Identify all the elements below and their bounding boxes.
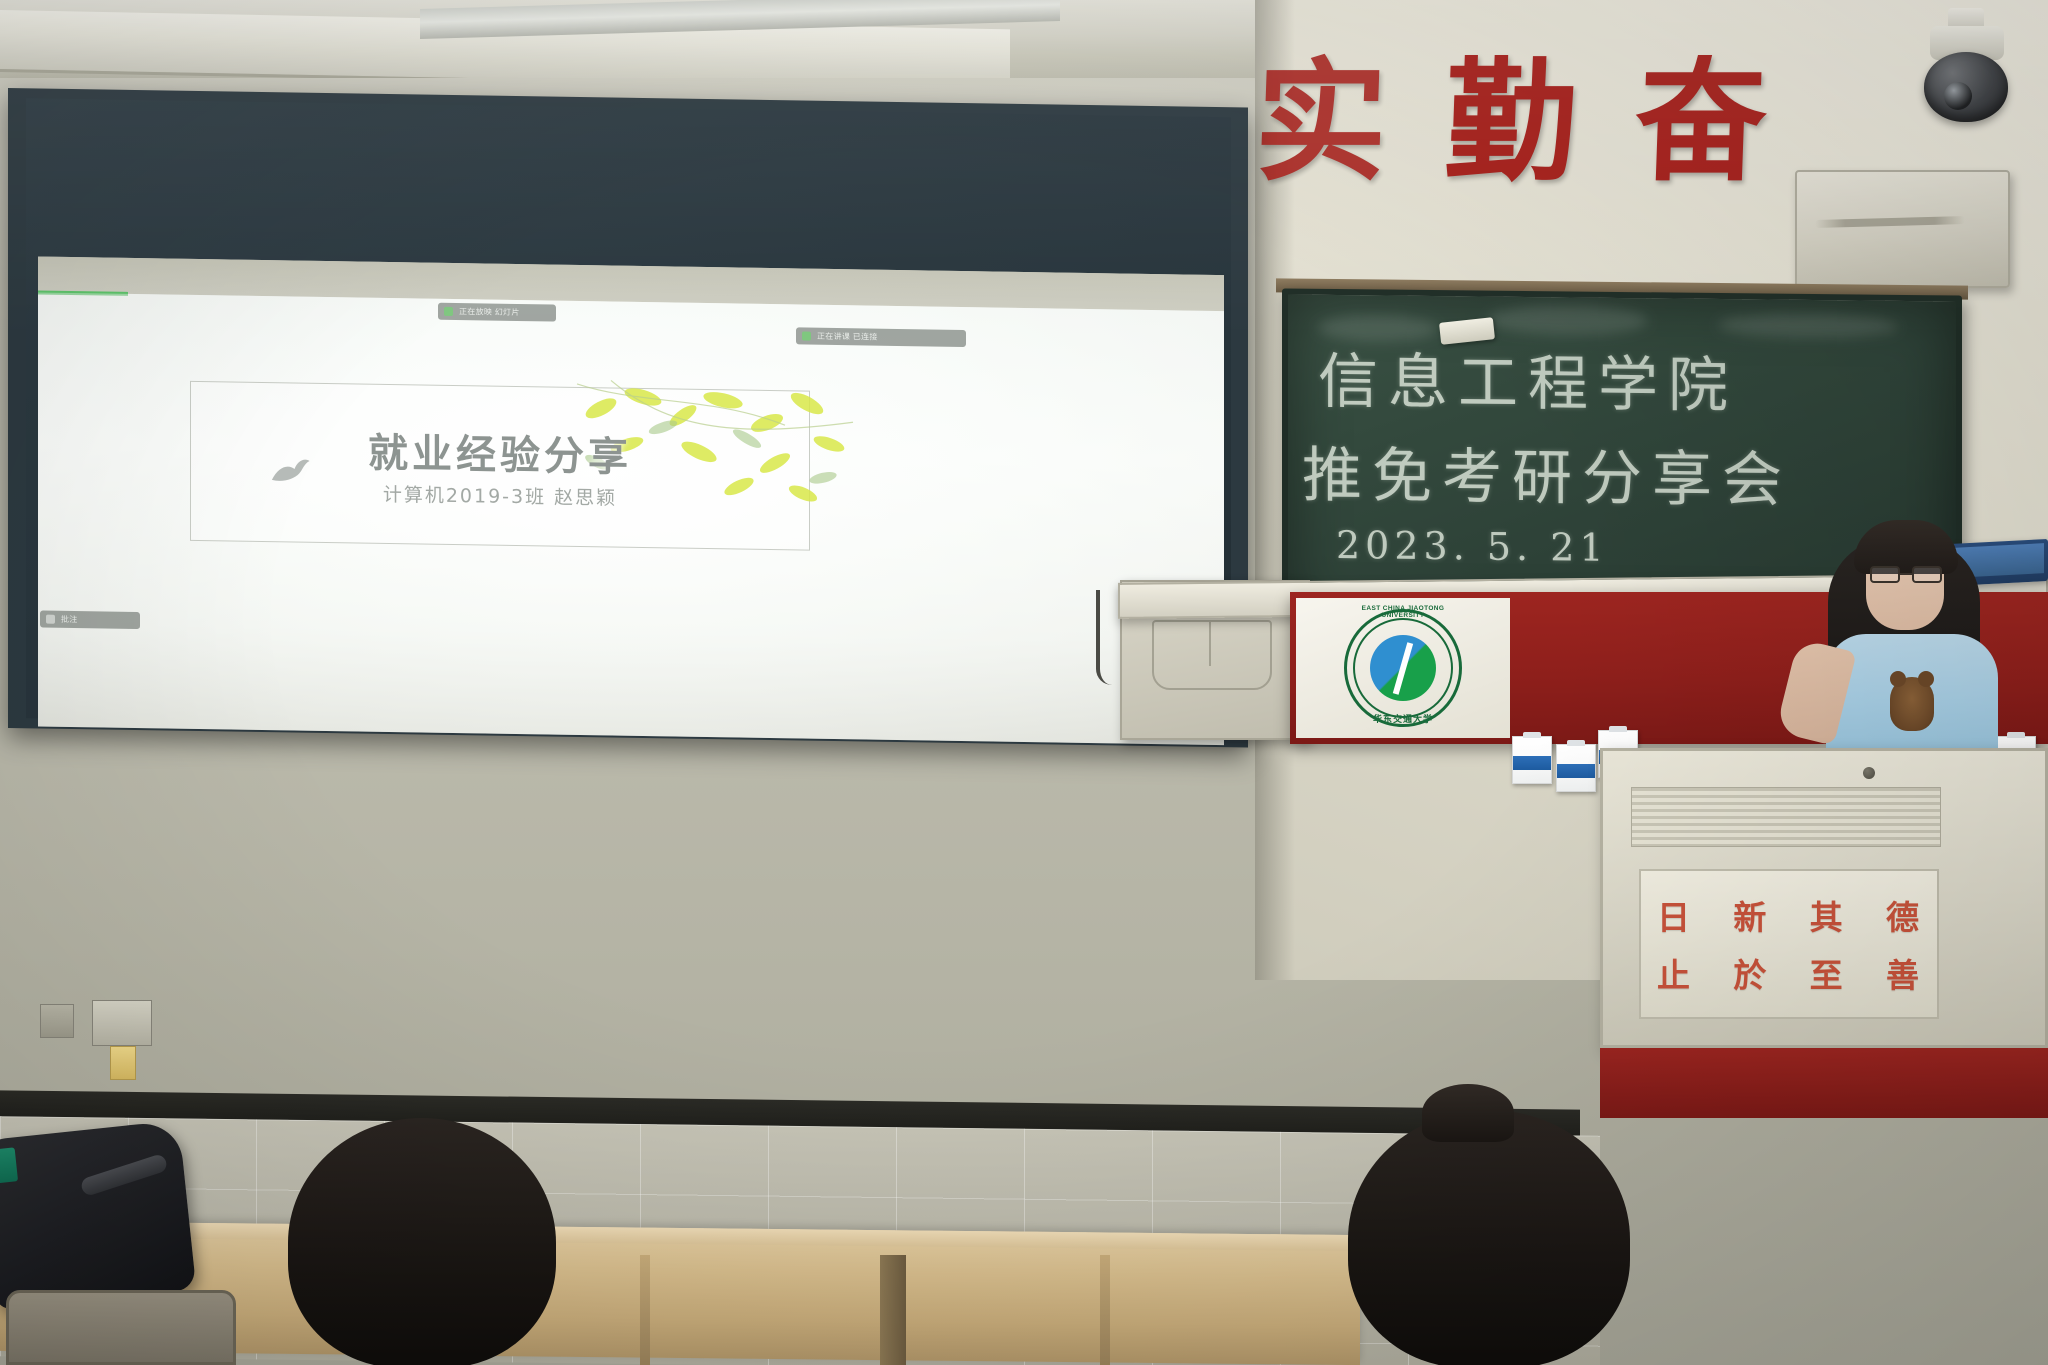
banner-char-2: 奋 — [1633, 57, 1770, 189]
projection-screen: 正在放映 幻灯片 正在讲课 已连接 批注 — [8, 88, 1248, 747]
carton-band — [1557, 764, 1595, 778]
slide-title-box: 就业经验分享 计算机2019-3班 赵思颖 — [190, 381, 810, 551]
banner-char-0: 实 — [1253, 57, 1390, 189]
teddy-bear-print-icon — [1890, 677, 1934, 731]
university-name-chinese: 华东交通大学 — [1344, 712, 1462, 725]
podium-logo-panel: EAST CHINA JIAOTONG UNIVERSITY 华东交通大学 — [1296, 598, 1510, 738]
lower-cabinet: 日 新 其 德 止 於 至 善 — [1600, 748, 2048, 1048]
audience-head-left — [288, 1118, 556, 1365]
presenter-right-bar[interactable]: 正在讲课 已连接 — [796, 327, 966, 347]
plaque-char: 新 — [1733, 891, 1768, 939]
audience-head-right — [1348, 1110, 1630, 1365]
plaque-char: 其 — [1810, 891, 1845, 939]
glasses-icon — [1870, 566, 1942, 583]
power-socket-icon — [40, 1004, 74, 1038]
record-dot-icon — [802, 331, 811, 340]
camera-lens — [1944, 82, 1972, 110]
motto-plaque: 日 新 其 德 止 於 至 善 — [1639, 869, 1939, 1019]
backpack-tag — [0, 1147, 18, 1184]
milk-carton[interactable] — [1556, 744, 1596, 792]
presenter-left-bar-label: 批注 — [61, 614, 78, 625]
chair-icon — [6, 1290, 236, 1365]
knob-icon[interactable] — [1863, 767, 1875, 779]
glasses-right-lens — [1912, 566, 1942, 583]
chalk-smudge — [1488, 305, 1648, 337]
university-emblem-icon: EAST CHINA JIAOTONG UNIVERSITY 华东交通大学 — [1344, 609, 1462, 727]
university-name-english: EAST CHINA JIAOTONG UNIVERSITY — [1344, 605, 1462, 619]
presenter-top-bar[interactable]: 正在放映 幻灯片 — [438, 303, 556, 322]
chalk-smudge — [1718, 313, 1898, 339]
security-camera-icon — [1900, 8, 2020, 133]
desk-divider — [640, 1255, 650, 1365]
banner-char-1: 勤 — [1443, 57, 1580, 189]
grey-dot-icon — [46, 615, 55, 624]
blackboard-line-2: 推免考研分享会 — [1302, 427, 1792, 519]
blackboard-line-3: 2023. 5. 21 — [1336, 523, 1609, 570]
plaque-char: 止 — [1657, 949, 1692, 997]
projector-glyph-icon — [1152, 620, 1272, 690]
presenter-right-bar-label: 正在讲课 已连接 — [817, 331, 878, 343]
carton-cap-icon — [1567, 740, 1585, 746]
label-tag-icon — [110, 1046, 136, 1080]
plaque-char: 德 — [1886, 891, 1921, 939]
plaque-char: 善 — [1886, 949, 1921, 997]
presenter-top-bar-label: 正在放映 幻灯片 — [459, 306, 520, 318]
vent-grill-icon — [1631, 787, 1941, 847]
plaque-char: 於 — [1733, 949, 1768, 997]
plaque-char: 日 — [1657, 891, 1692, 939]
wall-speaker-icon — [1795, 170, 2010, 288]
presenter — [1820, 512, 2048, 782]
plaque-char: 至 — [1810, 949, 1845, 997]
milk-carton[interactable] — [1512, 736, 1552, 784]
emblem-core — [1370, 635, 1436, 701]
lower-cabinet-base — [1600, 1048, 2048, 1118]
desk-leg — [880, 1255, 906, 1365]
presenter-left-bar[interactable]: 批注 — [40, 611, 140, 630]
cable-icon — [1096, 590, 1112, 685]
blackboard-line-1: 信息工程学院 — [1318, 333, 1738, 424]
backpack-strap — [79, 1153, 168, 1197]
carton-cap-icon — [1523, 732, 1541, 738]
projected-slide: 正在放映 幻灯片 正在讲课 已连接 批注 — [38, 256, 1224, 745]
backpack-icon — [0, 1120, 196, 1310]
power-socket-icon — [92, 1000, 152, 1046]
slide-green-edge — [38, 290, 128, 295]
carton-band — [1513, 756, 1551, 770]
slide-title: 就业经验分享 — [191, 418, 809, 486]
desk-divider — [1100, 1255, 1110, 1365]
record-dot-icon — [444, 307, 453, 316]
plaque-row-1: 日 新 其 德 — [1657, 891, 1921, 939]
plaque-row-2: 止 於 至 善 — [1657, 949, 1921, 997]
glasses-left-lens — [1870, 566, 1900, 583]
glasses-bridge — [1900, 573, 1912, 575]
carton-cap-icon — [1609, 726, 1627, 732]
classroom-scene: 实 勤 奋 正在放映 幻灯片 正在讲课 已连接 — [0, 0, 2048, 1365]
